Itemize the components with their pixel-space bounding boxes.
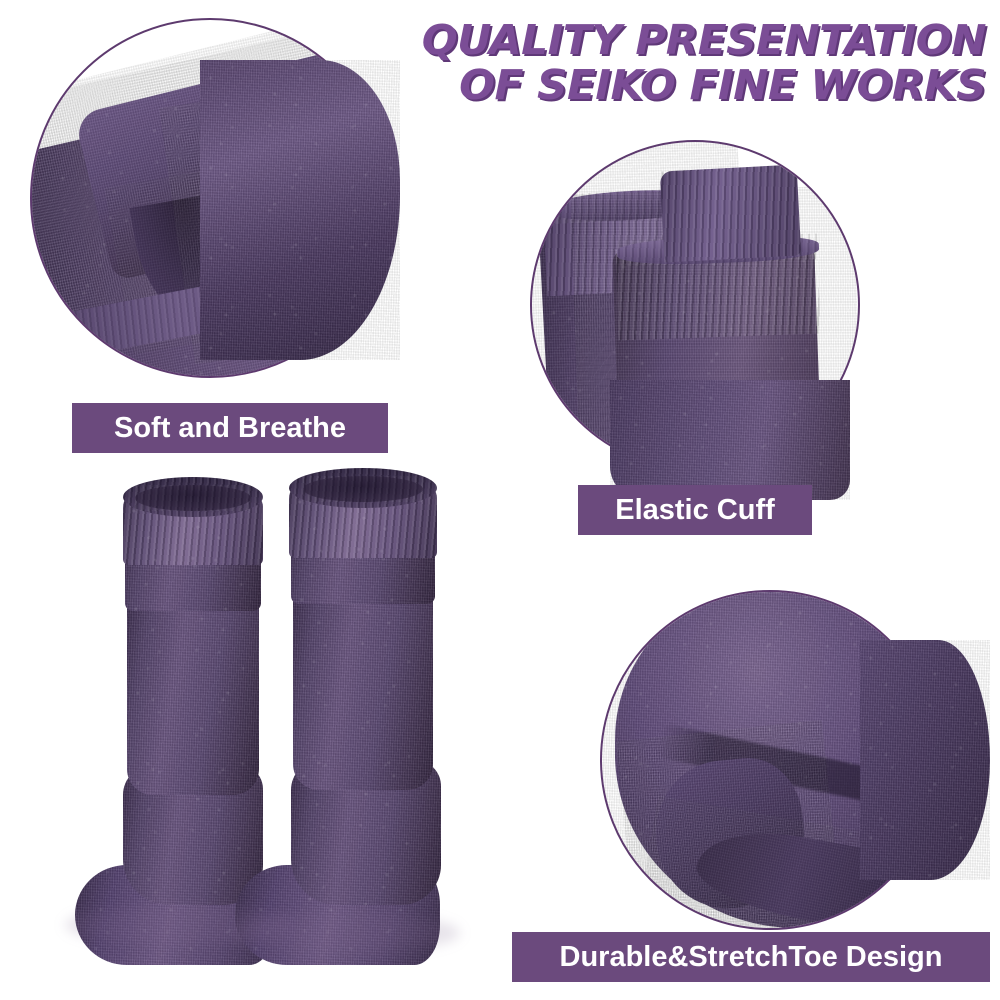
feature-label-soft-and-breathe: Soft and Breathe <box>72 403 388 453</box>
feature-label-text: Durable&StretchToe Design <box>560 941 943 974</box>
title-line-2: OF SEIKO FINE WORKS <box>389 63 986 108</box>
feature-label-durable-stretch-toe: Durable&StretchToe Design <box>512 932 990 982</box>
soft-fabric-bleed <box>200 60 400 360</box>
feature-label-elastic-cuff: Elastic Cuff <box>578 485 812 535</box>
feature-label-text: Soft and Breathe <box>114 412 346 445</box>
product-infographic: QUALITY PRESENTATION OF SEIKO FINE WORKS <box>0 0 1000 1000</box>
page-title: QUALITY PRESENTATION OF SEIKO FINE WORKS <box>406 18 986 108</box>
toe-fabric-bleed <box>860 640 990 880</box>
feature-label-text: Elastic Cuff <box>615 494 775 527</box>
title-line-1: QUALITY PRESENTATION <box>389 18 986 63</box>
hero-image-socks-pair <box>55 465 485 965</box>
cuff-fabric-bleed <box>610 380 850 500</box>
sock-right <box>235 460 465 965</box>
